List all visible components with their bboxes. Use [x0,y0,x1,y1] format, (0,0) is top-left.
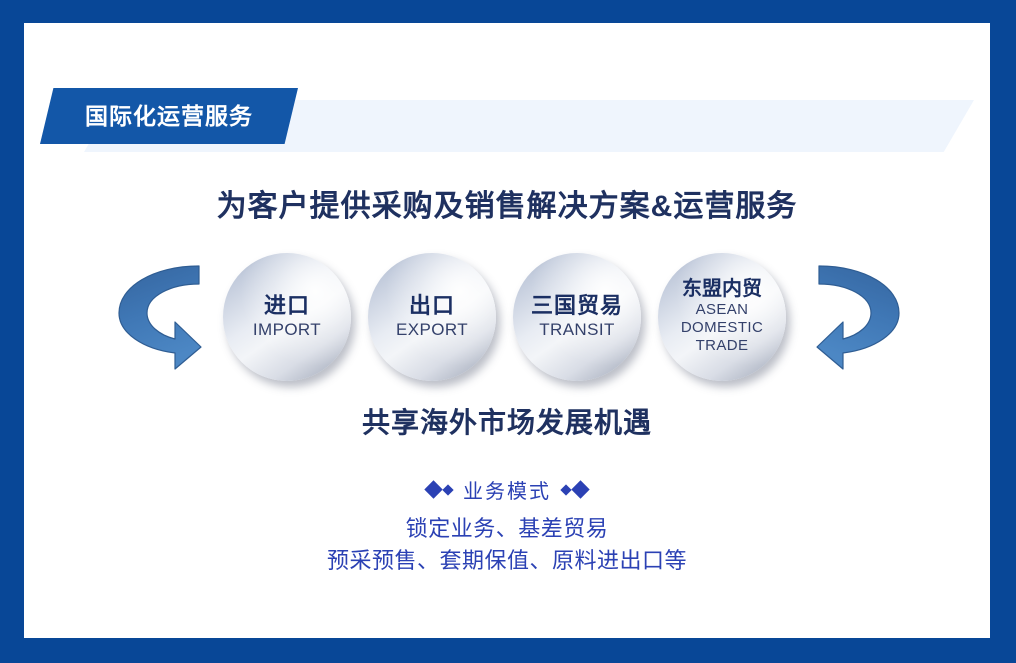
circle-label-en: EXPORT [396,320,468,340]
diamond-icon [560,484,571,495]
circle-import: 进口 IMPORT [223,253,351,381]
circle-asean-domestic-trade: 东盟内贸 ASEANDOMESTICTRADE [658,253,786,381]
section-marker: 业务模式 [24,475,990,504]
business-circles-row: 进口 IMPORT 出口 EXPORT 三国贸易 TRANSIT 东盟内贸 AS… [24,241,990,396]
diamond-pair-right [562,483,587,496]
header-banner: 国际化运营服务 [24,85,990,180]
page-title: 为客户提供采购及销售解决方案&运营服务 [24,181,990,225]
curved-arrow-right-icon [111,256,203,371]
circle-label-en: ASEANDOMESTICTRADE [681,301,763,354]
banner-tab: 国际化运营服务 [40,88,298,144]
body-text-block: 锁定业务、基差贸易 预采预售、套期保值、原料进出口等 [24,513,990,577]
section-subtitle: 共享海外市场发展机遇 [24,401,990,441]
banner-title: 国际化运营服务 [40,88,298,144]
section-marker-label: 业务模式 [463,475,551,504]
diamond-icon [424,480,442,498]
slide-root: 国际化运营服务 为客户提供采购及销售解决方案&运营服务 [0,0,1016,663]
circle-export: 出口 EXPORT [368,253,496,381]
circle-transit: 三国贸易 TRANSIT [513,253,641,381]
diamond-icon [442,484,453,495]
circle-label-cn: 进口 [264,294,310,317]
circle-label-cn: 三国贸易 [531,294,623,317]
circle-label-cn: 出口 [409,294,455,317]
circle-label-cn: 东盟内贸 [682,279,762,300]
body-line: 预采预售、套期保值、原料进出口等 [24,545,990,577]
slide-canvas: 国际化运营服务 为客户提供采购及销售解决方案&运营服务 [24,23,990,638]
curved-arrow-left-icon [815,256,907,371]
circle-label-en: IMPORT [253,320,321,340]
circle-label-en: TRANSIT [539,320,615,340]
diamond-icon [571,480,589,498]
diamond-pair-left [427,483,452,496]
body-line: 锁定业务、基差贸易 [24,513,990,545]
